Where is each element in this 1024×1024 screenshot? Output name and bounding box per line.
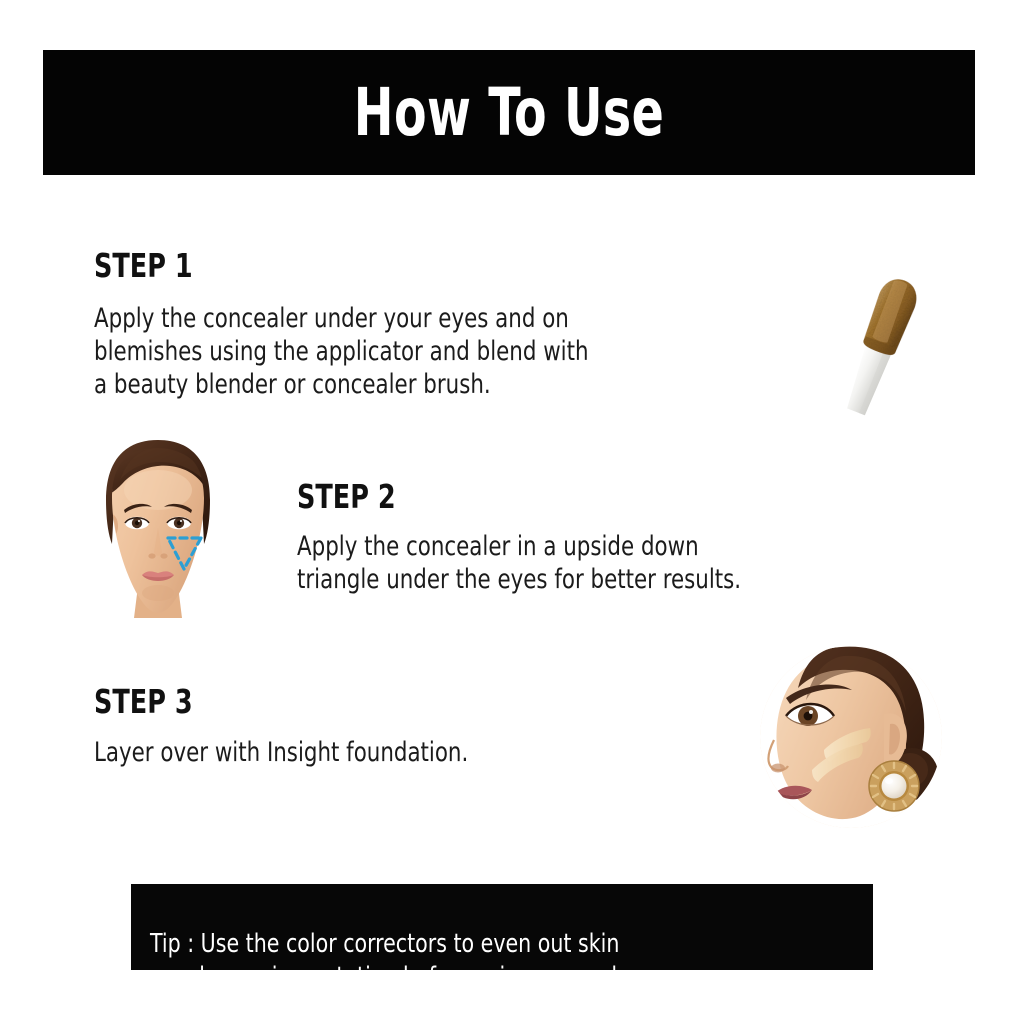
pearl-earring (869, 761, 919, 811)
face-front-photo (84, 438, 232, 618)
step-2-body: Apply the concealer in a upside down tri… (297, 530, 741, 596)
header-banner: How To Use (43, 50, 975, 175)
tip-line-2: hyperpigmentation before using concealer… (150, 961, 786, 994)
concealer-applicator-icon (820, 270, 940, 420)
tip-line-1: Tip : Use the color correctors to even o… (150, 929, 619, 959)
step-3-title: STEP 3 (94, 685, 193, 720)
eye-left (125, 517, 149, 529)
step-1-body: Apply the concealer under your eyes and … (94, 302, 589, 401)
how-to-use-infographic: How To Use STEP 1 Apply the concealer un… (0, 0, 1024, 1024)
step-3-body: Layer over with Insight foundation. (94, 736, 468, 769)
face-circle-svg (760, 646, 942, 828)
tip-box: Tip : Use the color correctors to even o… (131, 884, 873, 970)
face-front-svg (84, 438, 232, 618)
page-title: How To Use (354, 80, 664, 146)
applicator-svg (820, 270, 940, 420)
step-1-title: STEP 1 (94, 249, 193, 284)
tip-text: Tip : Use the color correctors to even o… (150, 895, 786, 1024)
step-2-title: STEP 2 (297, 480, 396, 515)
eye-right (167, 517, 191, 529)
face-circle-photo (760, 646, 942, 828)
